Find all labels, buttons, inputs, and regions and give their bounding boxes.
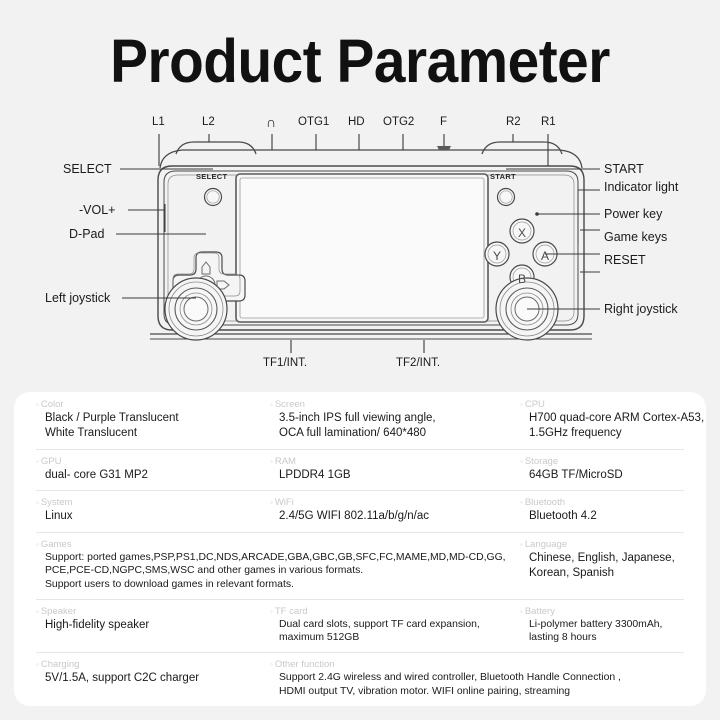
bullet-icon: ◦ <box>270 457 273 466</box>
spec-value: High-fidelity speaker <box>36 618 270 634</box>
spec-value: LPDDR4 1GB <box>270 468 520 484</box>
label-select: SELECT <box>63 163 112 176</box>
bullet-icon: ◦ <box>36 540 39 549</box>
spec-value: 5V/1.5A, support C2C charger <box>36 671 270 687</box>
spec-value: 2.4/5G WIFI 802.11a/b/g/n/ac <box>270 509 520 525</box>
spec-value: Li-polymer battery 3300mAh, lasting 8 ho… <box>520 618 706 645</box>
spec-row: ◦Speaker High-fidelity speaker ◦TF card … <box>14 599 706 652</box>
spec-value: Dual card slots, support TF card expansi… <box>270 618 520 645</box>
label-l2: L2 <box>202 117 215 129</box>
spec-key: ◦Bluetooth <box>520 497 706 509</box>
spec-key: ◦CPU <box>520 399 706 411</box>
spec-cell-games: ◦Games Support: ported games,PSP,PS1,DC,… <box>14 532 520 599</box>
label-reset: RESET <box>604 254 646 267</box>
bullet-icon: ◦ <box>270 607 273 616</box>
spec-key: ◦TF card <box>270 606 520 618</box>
label-left-joystick: Left joystick <box>45 292 110 305</box>
spec-key: ◦Speaker <box>36 606 270 618</box>
spec-value: Support 2.4G wireless and wired controll… <box>270 671 706 698</box>
ondevice-button-b: B <box>518 272 526 286</box>
spec-cell-cpu: ◦CPU H700 quad-core ARM Cortex-A53, 1.5G… <box>520 392 706 449</box>
spec-row: ◦Games Support: ported games,PSP,PS1,DC,… <box>14 532 706 599</box>
label-r1: R1 <box>541 117 556 129</box>
label-start: START <box>604 163 644 176</box>
page-title: Product Parameter <box>25 26 695 96</box>
spec-value: Black / Purple Translucent White Translu… <box>36 411 270 442</box>
label-power-key: Power key <box>604 208 662 221</box>
spec-key: ◦Charging <box>36 659 270 671</box>
f-port <box>437 146 451 150</box>
bullet-icon: ◦ <box>270 660 273 669</box>
ondevice-button-y: Y <box>493 249 501 263</box>
spec-key: ◦Color <box>36 399 270 411</box>
bullet-icon: ◦ <box>270 400 273 409</box>
bullet-icon: ◦ <box>520 457 523 466</box>
bullet-icon: ◦ <box>270 498 273 507</box>
bullet-icon: ◦ <box>520 540 523 549</box>
spec-key: ◦Screen <box>270 399 520 411</box>
spec-row: ◦Color Black / Purple Translucent White … <box>14 392 706 449</box>
spec-cell-other-function: ◦Other function Support 2.4G wireless an… <box>270 652 706 705</box>
label-tf2: TF2/INT. <box>396 358 440 370</box>
label-otg1: OTG1 <box>298 117 329 129</box>
spec-row: ◦GPU dual- core G31 MP2 ◦RAM LPDDR4 1GB … <box>14 449 706 490</box>
spec-row: ◦Charging 5V/1.5A, support C2C charger ◦… <box>14 652 706 705</box>
spec-table: ◦Color Black / Purple Translucent White … <box>14 392 706 706</box>
spec-cell-screen: ◦Screen 3.5-inch IPS full viewing angle,… <box>270 392 520 449</box>
spec-value: Bluetooth 4.2 <box>520 509 706 525</box>
bullet-icon: ◦ <box>520 498 523 507</box>
label-tf1: TF1/INT. <box>263 358 307 370</box>
left-joystick <box>165 278 227 340</box>
spec-value: 3.5-inch IPS full viewing angle, OCA ful… <box>270 411 520 442</box>
spec-key: ◦GPU <box>36 456 270 468</box>
device-diagram: L1 L2 ∩ OTG1 HD OTG2 F R2 R1 SELECT -VOL… <box>0 112 720 390</box>
spec-key: ◦Battery <box>520 606 706 618</box>
ondevice-select: SELECT <box>196 172 227 181</box>
spec-value: Support: ported games,PSP,PS1,DC,NDS,ARC… <box>36 551 520 592</box>
spec-cell-speaker: ◦Speaker High-fidelity speaker <box>14 599 270 652</box>
spec-key: ◦Other function <box>270 659 706 671</box>
spec-key: ◦Games <box>36 539 520 551</box>
spec-cell-system: ◦System Linux <box>14 490 270 531</box>
spec-key: ◦WiFi <box>270 497 520 509</box>
spec-value: dual- core G31 MP2 <box>36 468 270 484</box>
label-dpad: D-Pad <box>69 228 104 241</box>
spec-key: ◦Storage <box>520 456 706 468</box>
label-otg2: OTG2 <box>383 117 414 129</box>
spec-value: 64GB TF/MicroSD <box>520 468 706 484</box>
spec-key: ◦RAM <box>270 456 520 468</box>
label-f: F <box>440 117 447 129</box>
spec-key: ◦System <box>36 497 270 509</box>
spec-cell-tfcard: ◦TF card Dual card slots, support TF car… <box>270 599 520 652</box>
spec-cell-wifi: ◦WiFi 2.4/5G WIFI 802.11a/b/g/n/ac <box>270 490 520 531</box>
ondevice-button-x: X <box>518 226 526 240</box>
spec-key: ◦Language <box>520 539 706 551</box>
label-r2: R2 <box>506 117 521 129</box>
label-indicator: Indicator light <box>604 181 678 194</box>
bullet-icon: ◦ <box>520 400 523 409</box>
bullet-icon: ◦ <box>36 607 39 616</box>
spec-cell-battery: ◦Battery Li-polymer battery 3300mAh, las… <box>520 599 706 652</box>
ondevice-button-a: A <box>541 249 549 263</box>
bullet-icon: ◦ <box>36 400 39 409</box>
spec-cell-color: ◦Color Black / Purple Translucent White … <box>14 392 270 449</box>
spec-cell-gpu: ◦GPU dual- core G31 MP2 <box>14 449 270 490</box>
bullet-icon: ◦ <box>36 660 39 669</box>
spec-cell-ram: ◦RAM LPDDR4 1GB <box>270 449 520 490</box>
spec-value: Linux <box>36 509 270 525</box>
label-right-joystick: Right joystick <box>604 303 678 316</box>
device-line-art <box>0 112 720 390</box>
ondevice-start: START <box>490 172 516 181</box>
spec-row: ◦System Linux ◦WiFi 2.4/5G WIFI 802.11a/… <box>14 490 706 531</box>
spec-cell-language: ◦Language Chinese, English, Japanese, Ko… <box>520 532 706 599</box>
label-hd: HD <box>348 117 365 129</box>
label-game-keys: Game keys <box>604 231 667 244</box>
product-parameter-page: Product Parameter <box>0 0 720 720</box>
spec-cell-charging: ◦Charging 5V/1.5A, support C2C charger <box>14 652 270 705</box>
label-l1: L1 <box>152 117 165 129</box>
label-volume: -VOL+ <box>79 204 115 217</box>
headphone-icon: ∩ <box>266 115 276 129</box>
spec-value: Chinese, English, Japanese, Korean, Span… <box>520 551 706 582</box>
spec-value: H700 quad-core ARM Cortex-A53, 1.5GHz fr… <box>520 411 706 442</box>
bullet-icon: ◦ <box>520 607 523 616</box>
spec-cell-bluetooth: ◦Bluetooth Bluetooth 4.2 <box>520 490 706 531</box>
bullet-icon: ◦ <box>36 457 39 466</box>
spec-cell-storage: ◦Storage 64GB TF/MicroSD <box>520 449 706 490</box>
bullet-icon: ◦ <box>36 498 39 507</box>
